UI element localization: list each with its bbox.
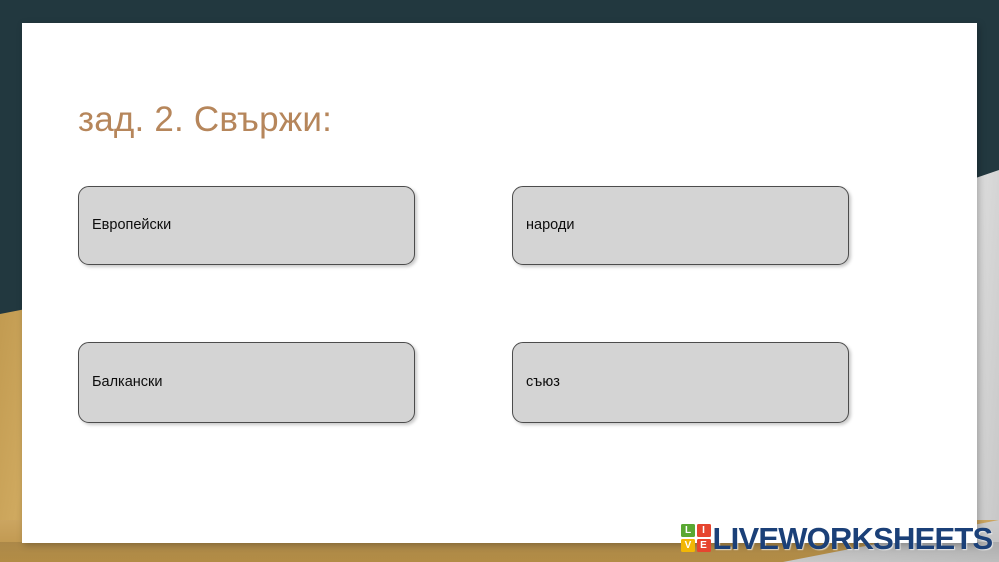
liveworksheets-logo[interactable]: L I V E LIVEWORKSHEETS	[681, 519, 992, 557]
logo-tile-v-icon: V	[681, 539, 695, 552]
page-title: зад. 2. Свържи:	[78, 100, 332, 140]
slide-stage: зад. 2. Свържи: Европейски народи Балкан…	[0, 0, 999, 562]
logo-tile-l-icon: L	[681, 524, 695, 537]
logo-tiles: L I V E	[681, 524, 711, 552]
match-item-label: Европейски	[79, 217, 171, 234]
match-item-label: Балкански	[79, 374, 162, 391]
match-item-label: народи	[513, 217, 574, 234]
logo-wordmark: LIVEWORKSHEETS	[713, 523, 993, 554]
worksheet-card: зад. 2. Свържи: Европейски народи Балкан…	[22, 23, 977, 543]
logo-tile-e-icon: E	[697, 539, 711, 552]
match-item-right-1[interactable]: народи	[512, 186, 849, 265]
match-item-label: съюз	[513, 374, 560, 391]
match-item-left-2[interactable]: Балкански	[78, 342, 415, 423]
match-item-right-2[interactable]: съюз	[512, 342, 849, 423]
match-item-left-1[interactable]: Европейски	[78, 186, 415, 265]
logo-tile-i-icon: I	[697, 524, 711, 537]
